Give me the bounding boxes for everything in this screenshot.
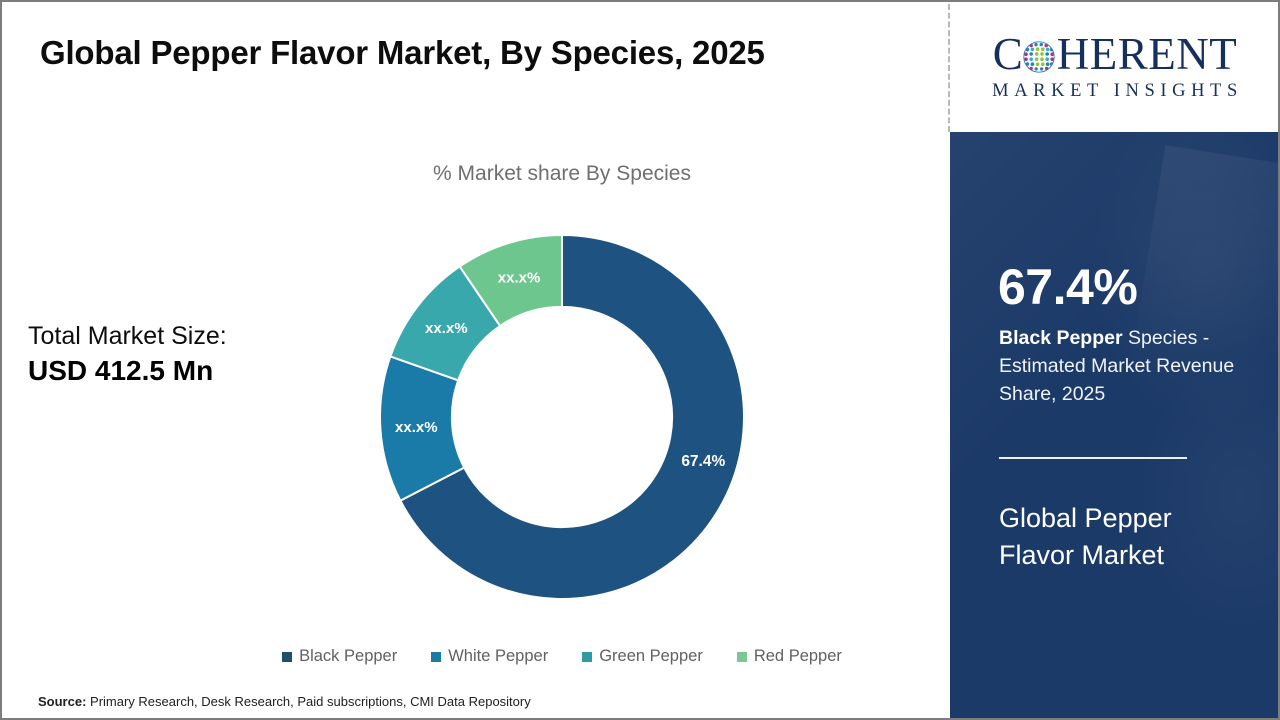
- infographic-page: Global Pepper Flavor Market, By Species,…: [0, 0, 1280, 720]
- globe-dots-icon: [1022, 40, 1056, 74]
- panel-stat-value: 67.4%: [998, 262, 1137, 312]
- brand-logo: C: [950, 2, 1280, 132]
- donut-chart: 67.4%xx.x%xx.x%xx.x%: [377, 232, 747, 602]
- logo-wordmark: C: [993, 32, 1238, 77]
- legend-label: Black Pepper: [299, 647, 397, 666]
- panel-market-name: Global Pepper Flavor Market: [999, 500, 1249, 575]
- panel-divider-rule: [999, 457, 1187, 459]
- side-panel: C: [950, 2, 1280, 718]
- legend-item[interactable]: Red Pepper: [737, 647, 842, 666]
- chart-area: Global Pepper Flavor Market, By Species,…: [2, 2, 949, 718]
- logo-wordmark-rest: HERENT: [1057, 32, 1237, 77]
- legend-item[interactable]: White Pepper: [431, 647, 548, 666]
- source-value: Primary Research, Desk Research, Paid su…: [86, 694, 530, 709]
- donut-slice-label: xx.x%: [498, 269, 541, 286]
- donut-slice-label: 67.4%: [681, 453, 725, 470]
- legend-item[interactable]: Green Pepper: [582, 647, 703, 666]
- total-market-size: Total Market Size: USD 412.5 Mn: [28, 324, 227, 385]
- legend-item[interactable]: Black Pepper: [282, 647, 397, 666]
- legend-swatch-icon: [431, 652, 441, 662]
- source-note: Source: Primary Research, Desk Research,…: [38, 694, 531, 709]
- legend-swatch-icon: [582, 652, 592, 662]
- donut-chart-svg: 67.4%xx.x%xx.x%xx.x%: [377, 232, 747, 602]
- legend-label: Red Pepper: [754, 647, 842, 666]
- donut-slice-label: xx.x%: [425, 320, 468, 337]
- page-title: Global Pepper Flavor Market, By Species,…: [40, 34, 765, 72]
- legend-swatch-icon: [282, 652, 292, 662]
- donut-slices: [380, 235, 744, 599]
- panel-stat-description: Black Pepper Species - Estimated Market …: [999, 324, 1239, 408]
- logo-tagline: MARKET INSIGHTS: [987, 81, 1243, 102]
- legend-label: Green Pepper: [599, 647, 703, 666]
- total-market-size-label: Total Market Size:: [28, 324, 227, 349]
- legend-label: White Pepper: [448, 647, 548, 666]
- total-market-size-value: USD 412.5 Mn: [28, 357, 227, 385]
- panel-desc-bold: Black Pepper: [999, 327, 1123, 349]
- source-label: Source:: [38, 694, 86, 709]
- panel-body: 67.4% Black Pepper Species - Estimated M…: [950, 132, 1280, 718]
- legend-swatch-icon: [737, 652, 747, 662]
- logo-letter-c: C: [993, 32, 1023, 77]
- donut-slice-label: xx.x%: [395, 419, 438, 436]
